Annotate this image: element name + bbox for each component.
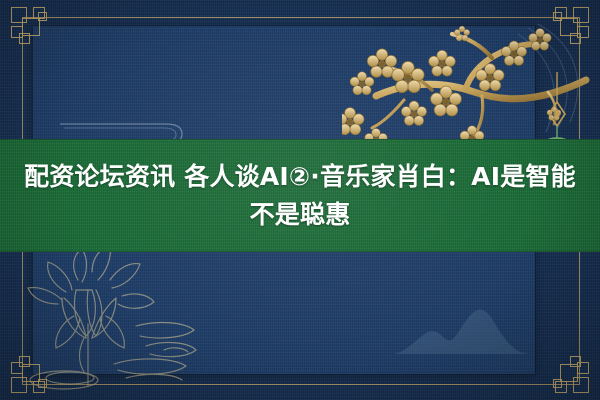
fretwork-corner-icon-top-left (11, 7, 55, 51)
fretwork-corner-icon-top-right (545, 7, 589, 51)
mountain-silhouette-icon (394, 296, 534, 356)
page-title: 配资论坛资讯 各人谈AI②·音乐家肖白：AI是智能不是聪惠 (0, 139, 600, 252)
poster-card: 配资论坛资讯 各人谈AI②·音乐家肖白：AI是智能不是聪惠 (0, 0, 600, 400)
fretwork-corner-icon-bottom-right (545, 349, 589, 393)
fretwork-corner-icon-bottom-left (11, 349, 55, 393)
